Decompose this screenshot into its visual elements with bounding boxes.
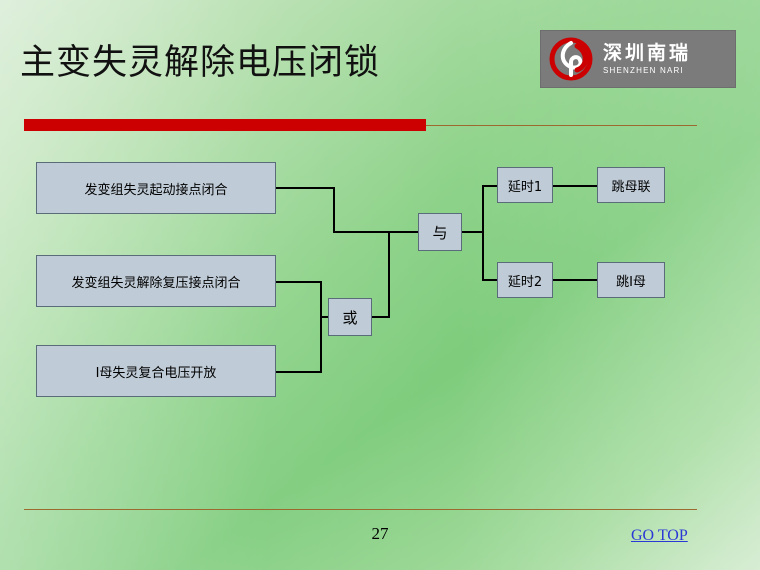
and-to-branch-segment-1 xyxy=(462,231,484,233)
footer-divider xyxy=(24,509,697,510)
diagram-node-t1: 跳母联 xyxy=(597,167,665,203)
in2-to-or-segment-2 xyxy=(320,281,322,318)
diagram-node-or: 或 xyxy=(328,298,372,336)
diagram-node-and: 与 xyxy=(418,213,462,251)
or-to-and-segment-2 xyxy=(388,231,390,318)
in3-to-or-segment-2 xyxy=(320,316,322,372)
diagram-node-in2: 发变组失灵解除复压接点闭合 xyxy=(36,255,276,307)
d1-to-t1-segment-1 xyxy=(553,185,598,187)
diagram-node-t2: 跳Ⅰ母 xyxy=(597,262,665,298)
or-to-and-segment-3 xyxy=(388,231,419,233)
in1-to-and-segment-1 xyxy=(276,187,334,189)
diagram-node-in1: 发变组失灵起动接点闭合 xyxy=(36,162,276,214)
slide: 主变失灵解除电压闭锁 深圳南瑞 SHENZHEN NARI 发变组失灵起动接点闭… xyxy=(0,0,760,570)
d2-to-t2-segment-1 xyxy=(553,279,598,281)
diagram-node-in3: Ⅰ母失灵复合电压开放 xyxy=(36,345,276,397)
and-to-branch-segment-4 xyxy=(482,279,498,281)
diagram-node-d2: 延时2 xyxy=(497,262,553,298)
logic-diagram: 发变组失灵起动接点闭合发变组失灵解除复压接点闭合Ⅰ母失灵复合电压开放或与延时1延… xyxy=(0,0,760,570)
go-top-link[interactable]: GO TOP xyxy=(631,527,688,545)
diagram-node-d1: 延时1 xyxy=(497,167,553,203)
in3-to-or-segment-1 xyxy=(276,371,322,373)
in2-to-or-segment-1 xyxy=(276,281,322,283)
in1-to-and-segment-2 xyxy=(333,187,335,233)
and-to-branch-segment-2 xyxy=(482,185,484,281)
and-to-branch-segment-3 xyxy=(482,185,498,187)
